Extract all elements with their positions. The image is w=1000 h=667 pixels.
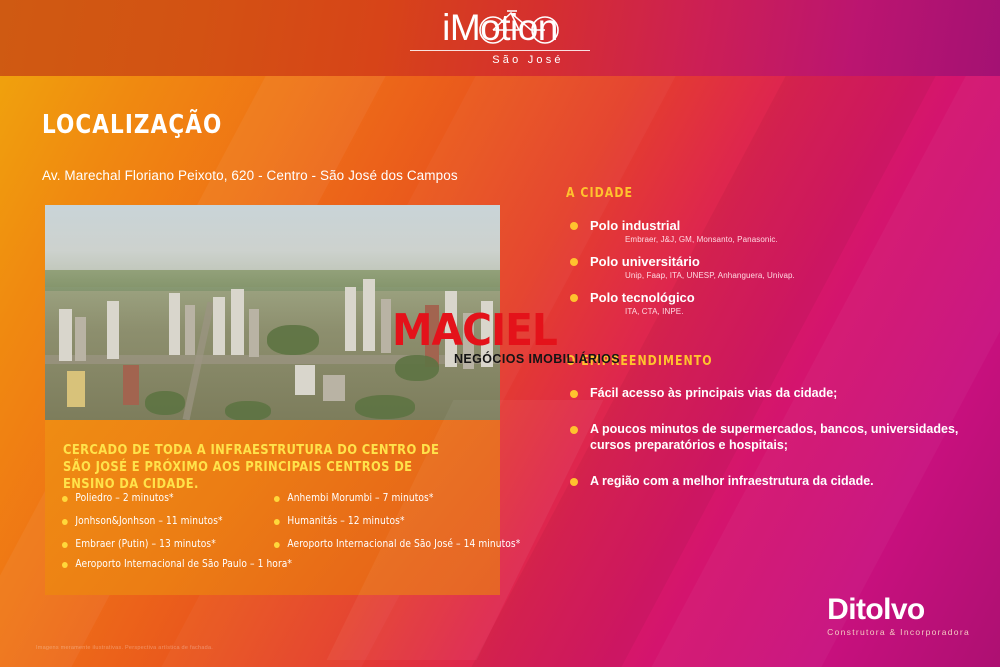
photo-vegetation [395, 355, 439, 381]
photo-building [323, 375, 345, 401]
development-bullet: A poucos minutos de supermercados, banco… [566, 421, 966, 453]
distance-column-wide: Aeroporto Internacional de São Paulo – 1… [61, 558, 481, 581]
logo-divider [410, 50, 590, 51]
distance-item: Aeroporto Internacional de São Paulo – 1… [61, 558, 464, 570]
photo-building [169, 293, 180, 355]
brand-logo[interactable]: iMotion São José [385, 7, 615, 66]
aerial-city-photo: Fonte Google Maps. [45, 205, 500, 420]
logo-subtitle: São José [385, 54, 615, 66]
distance-column-left: Poliedro – 2 minutos* Jonhson&Jonhson – … [61, 492, 301, 561]
distance-item: Humanitás – 12 minutos* [273, 515, 513, 527]
photo-building [123, 365, 139, 405]
city-bullet-title: Polo industrial [590, 217, 966, 234]
logo-mark: iMotion [405, 7, 595, 49]
photo-vegetation [225, 401, 271, 420]
photo-building [185, 305, 195, 355]
photo-building [295, 365, 315, 395]
ditolvo-tagline: Construtora & Incorporadora [827, 627, 970, 637]
page-title: LOCALIZAÇÃO [42, 110, 222, 140]
slide-canvas: iMotion São José LOCALIZAÇÃO Av. Marecha… [0, 0, 1000, 667]
logo-wordmark: iMotion [405, 7, 595, 49]
ditolvo-name: Ditolvo [827, 595, 970, 625]
photo-building [249, 309, 259, 357]
city-bullet-detail: ITA, CTA, INPE. [625, 307, 966, 316]
development-bullet: Fácil acesso às principais vias da cidad… [566, 385, 966, 401]
city-bullet-title: Polo tecnológico [590, 289, 966, 306]
city-bullet-detail: Unip, Faap, ITA, UNESP, Anhanguera, Univ… [625, 271, 966, 280]
section-a-cidade: A CIDADE Polo industrial Embraer, J&J, G… [566, 186, 966, 316]
section-empreendimento: O EMPREENDIMENTO Fácil acesso às princip… [566, 354, 966, 489]
address-line: Av. Marechal Floriano Peixoto, 620 - Cen… [42, 168, 458, 183]
infobox-panel: CERCADO DE TODA A INFRAESTRUTURA DO CENT… [45, 420, 500, 595]
photo-building [67, 371, 85, 407]
right-content-column: A CIDADE Polo industrial Embraer, J&J, G… [566, 186, 966, 509]
infobox-headline: CERCADO DE TODA A INFRAESTRUTURA DO CENT… [63, 442, 462, 493]
city-bullet-title: Polo universitário [590, 253, 966, 270]
header-bar: iMotion São José [0, 0, 1000, 76]
photo-vegetation [355, 395, 415, 419]
photo-building [363, 279, 375, 351]
photo-vegetation [145, 391, 185, 415]
distance-item: Embraer (Putin) – 13 minutos* [61, 538, 291, 550]
distance-item: Poliedro – 2 minutos* [61, 492, 291, 504]
section-heading-city: A CIDADE [566, 186, 942, 201]
photo-building [481, 301, 493, 367]
photo-building [213, 297, 225, 355]
development-bullet: A região com a melhor infraestrutura da … [566, 473, 966, 489]
photo-building [231, 289, 244, 355]
footer-disclaimer: Imagens meramente ilustrativas. Perspect… [36, 645, 213, 651]
photo-building [463, 313, 474, 369]
distance-item: Anhembi Morumbi – 7 minutos* [273, 492, 513, 504]
distance-item: Jonhson&Jonhson – 11 minutos* [61, 515, 291, 527]
city-bullet: Polo industrial Embraer, J&J, GM, Monsan… [566, 217, 966, 244]
development-bullet-text: A região com a melhor infraestrutura da … [590, 473, 966, 489]
section-heading-development: O EMPREENDIMENTO [566, 354, 942, 369]
development-bullet-text: Fácil acesso às principais vias da cidad… [590, 385, 966, 401]
distance-column-right: Anhembi Morumbi – 7 minutos* Humanitás –… [273, 492, 523, 561]
photo-building [107, 301, 119, 359]
photo-vegetation [267, 325, 319, 355]
photo-building [381, 299, 391, 353]
city-bullet: Polo universitário Unip, Faap, ITA, UNES… [566, 253, 966, 280]
development-bullet-text: A poucos minutos de supermercados, banco… [590, 421, 966, 453]
distance-item: Aeroporto Internacional de São José – 14… [273, 538, 513, 550]
photo-building [75, 317, 86, 361]
city-bullet: Polo tecnológico ITA, CTA, INPE. [566, 289, 966, 316]
photo-building [445, 291, 457, 367]
city-bullet-detail: Embraer, J&J, GM, Monsanto, Panasonic. [625, 235, 966, 244]
ditolvo-logo[interactable]: Ditolvo Construtora & Incorporadora [827, 595, 970, 637]
photo-building [345, 287, 356, 351]
photo-building [59, 309, 72, 361]
